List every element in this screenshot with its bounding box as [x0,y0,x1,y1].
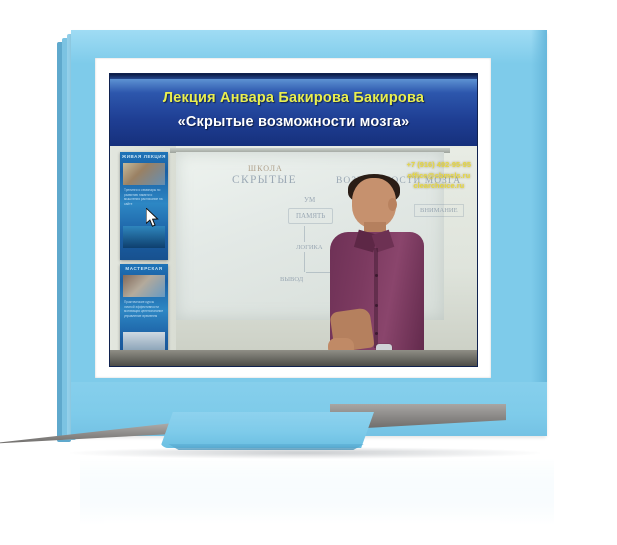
lecture-video-frame[interactable]: ЖИВАЯ ЛЕКЦИЯ Тренинги и семинары по разв… [110,146,477,366]
wall-poster-bottom-image [123,275,165,297]
wall-poster-bottom-title: МАСТЕРСКАЯ [120,266,168,271]
reflection-fade-mask [0,452,617,545]
whiteboard-text-top: ШКОЛА [248,164,283,173]
mouse-cursor-icon [146,208,160,228]
contact-phone: +7 (916) 492-95-95 [407,160,471,171]
slide-title-line-2: «Скрытые возможности мозга» [110,114,477,130]
lecture-speaker [326,178,430,366]
wall-poster-bottom-body: Практические курсы личной эффективности … [124,300,164,318]
computer-monitor: Лекция Анвара Бакирова Бакирова «Скрытые… [57,24,547,444]
monitor-stand-base [160,412,374,448]
monitor-screen[interactable]: Лекция Анвара Бакирова Бакирова «Скрытые… [110,74,477,366]
speaker-ear [388,198,397,211]
whiteboard-connector-1 [304,226,305,242]
wall-poster-top-body: Тренинги и семинары по развитию памяти и… [124,188,164,206]
scene-root: Лекция Анвара Бакирова Бакирова «Скрытые… [0,0,617,545]
speaker-shirt-button [375,332,378,335]
whiteboard-connector-2 [304,252,305,272]
slide-title-band: Лекция Анвара Бакирова Бакирова «Скрытые… [110,74,477,146]
room-left-wall: ЖИВАЯ ЛЕКЦИЯ Тренинги и семинары по разв… [110,146,176,366]
whiteboard-text-sub: УМ [304,196,315,204]
bezel-right-shading [531,30,547,436]
whiteboard-text-main: СКРЫТЫЕ [232,174,297,186]
speaker-shirt-button [375,274,378,277]
wall-poster-top: ЖИВАЯ ЛЕКЦИЯ Тренинги и семинары по разв… [120,152,168,260]
whiteboard-note-c: ВЫВОД [280,276,303,283]
contact-website: clearchoice.ru [407,181,471,192]
room-desk-surface [110,350,477,366]
wall-poster-top-image [123,163,165,185]
wall-poster-bottom: МАСТЕРСКАЯ Практические курсы личной эфф… [120,264,168,360]
contact-email: office@cbmsls.ru [407,171,471,182]
contact-overlay: +7 (916) 492-95-95 office@cbmsls.ru clea… [407,160,471,192]
speaker-shirt-button [375,304,378,307]
wall-poster-top-photo [123,226,165,248]
wall-poster-top-title: ЖИВАЯ ЛЕКЦИЯ [120,154,168,159]
whiteboard-note-b: ЛОГИКА [296,244,323,251]
slide-title-line-1: Лекция Анвара Бакирова Бакирова [110,90,477,106]
